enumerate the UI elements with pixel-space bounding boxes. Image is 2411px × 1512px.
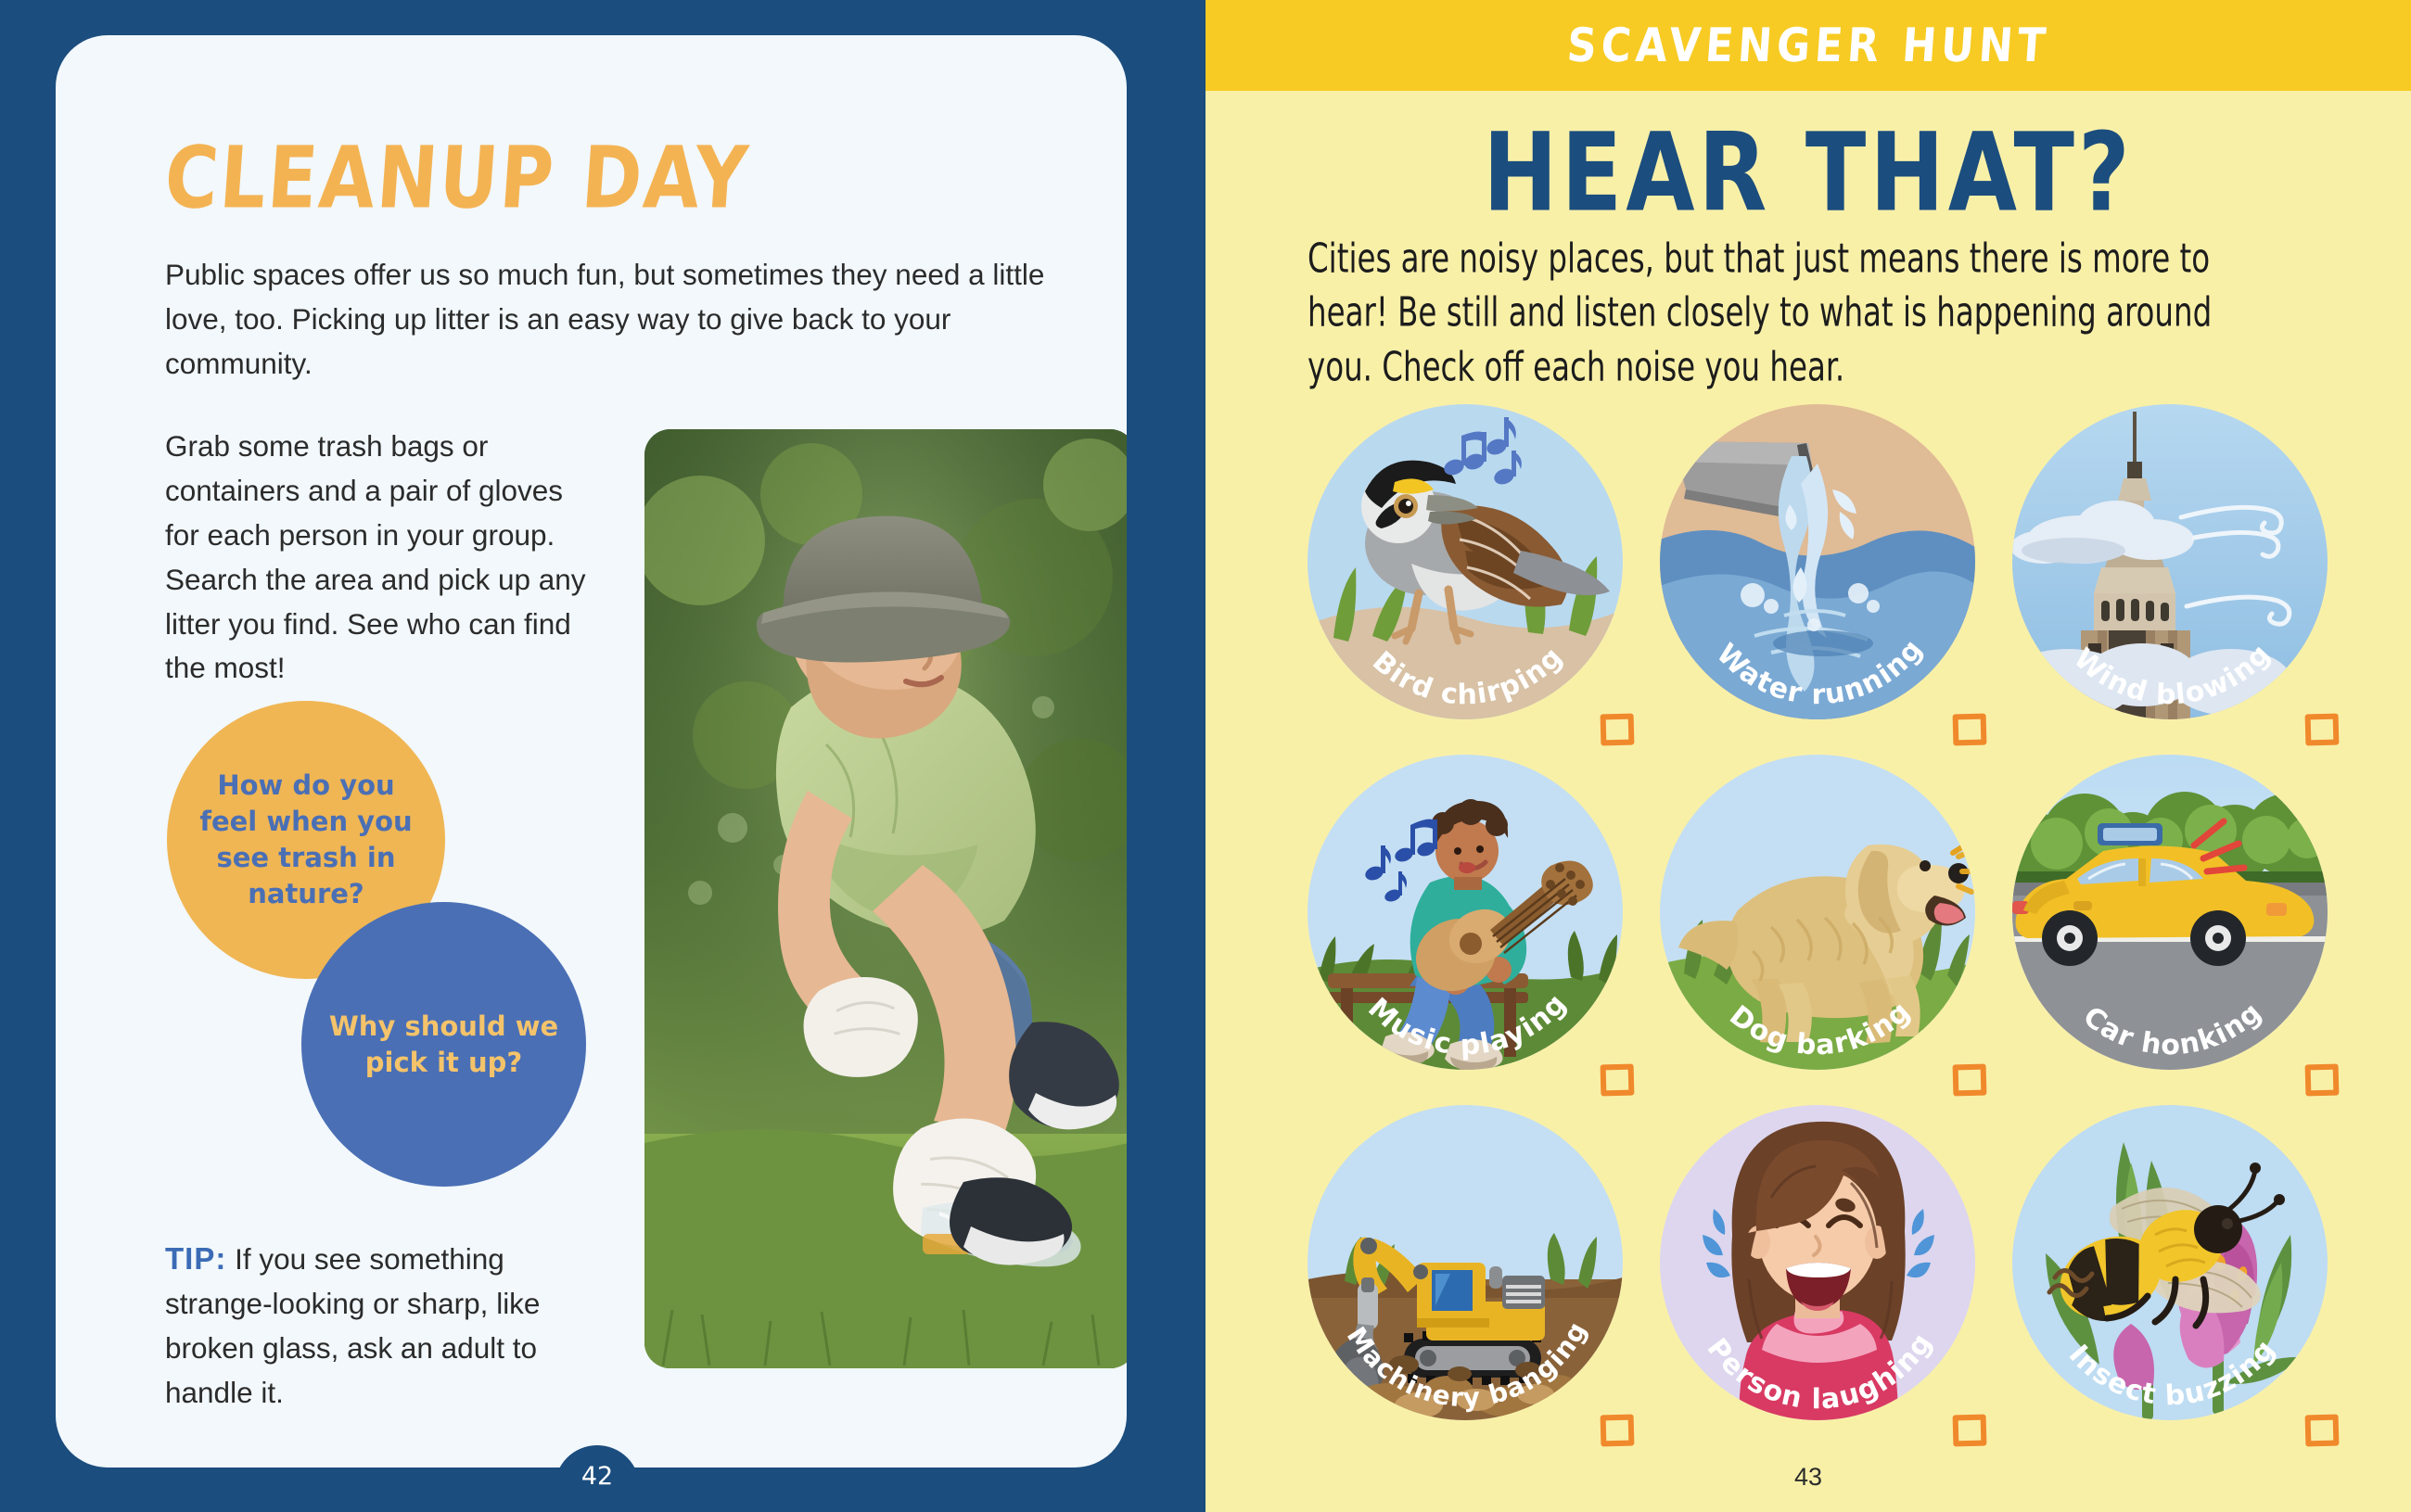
scavenger-hunt-banner: SCAVENGER HUNT (1205, 0, 2411, 91)
checkbox-dog-barking[interactable] (1953, 1064, 1987, 1097)
laughing-girl-icon (1660, 1105, 1975, 1420)
water-icon (1660, 404, 1975, 719)
intro-paragraph: Public spaces offer us so much fun, but … (165, 253, 1048, 387)
left-page: CLEANUP DAY Public spaces offer us so mu… (0, 0, 1205, 1512)
right-page-intro: Cities are noisy places, but that just m… (1308, 232, 2268, 394)
question-bubble-blue-text: Why should we pick it up? (301, 1009, 586, 1081)
checklist-item-music-playing[interactable]: Music playing (1291, 751, 1643, 1101)
scavenger-hunt-banner-text: SCAVENGER HUNT (1565, 19, 2052, 72)
checklist-item-car-honking[interactable]: Car honking (1996, 751, 2348, 1101)
cleanup-photo (644, 429, 1127, 1368)
checklist-item-dog-barking[interactable]: Dog barking (1643, 751, 1996, 1101)
question-bubble-blue: Why should we pick it up? (301, 902, 586, 1187)
bird-icon (1308, 404, 1623, 719)
tip-label: TIP: (165, 1241, 226, 1276)
checkbox-wind-blowing[interactable] (2305, 714, 2340, 746)
page-number-right: 43 (1205, 1463, 2411, 1492)
checklist-item-machinery-banging[interactable]: Machinery banging (1291, 1101, 1643, 1452)
bee-icon (2012, 1105, 2328, 1420)
sound-checklist-grid: Bird chirping (1291, 400, 2348, 1452)
checkbox-bird-chirping[interactable] (1601, 714, 1635, 746)
instructions-paragraph: Grab some trash bags or containers and a… (165, 425, 601, 691)
left-page-paper: CLEANUP DAY Public spaces offer us so mu… (56, 35, 1127, 1468)
checklist-item-insect-buzzing[interactable]: Insect buzzing (1996, 1101, 2348, 1452)
checkbox-music-playing[interactable] (1601, 1064, 1635, 1097)
checkbox-car-honking[interactable] (2305, 1064, 2340, 1097)
checkbox-machinery-banging[interactable] (1601, 1415, 1635, 1447)
checkbox-person-laughing[interactable] (1953, 1415, 1987, 1447)
guitarist-icon (1308, 755, 1623, 1070)
checklist-item-bird-chirping[interactable]: Bird chirping (1291, 400, 1643, 751)
checklist-item-water-running[interactable]: Water running (1643, 400, 1996, 751)
excavator-icon (1308, 1105, 1623, 1420)
right-page: SCAVENGER HUNT HEAR THAT? Cities are noi… (1205, 0, 2411, 1512)
right-page-title: HEAR THAT? (1205, 109, 2411, 236)
taxi-icon (2012, 755, 2328, 1070)
question-bubble-orange-text: How do you feel when you see trash in na… (167, 768, 445, 911)
tip-block: TIP: If you see something strange-lookin… (165, 1236, 601, 1416)
checkbox-insect-buzzing[interactable] (2305, 1415, 2340, 1447)
skyscraper-icon (2012, 404, 2328, 719)
book-spread: CLEANUP DAY Public spaces offer us so mu… (0, 0, 2411, 1512)
checkbox-water-running[interactable] (1953, 714, 1987, 746)
checklist-item-wind-blowing[interactable]: Wind blowing (1996, 400, 2348, 751)
checklist-item-person-laughing[interactable]: Person laughing (1643, 1101, 1996, 1452)
page-title: CLEANUP DAY (161, 130, 752, 228)
dog-icon (1660, 755, 1975, 1070)
